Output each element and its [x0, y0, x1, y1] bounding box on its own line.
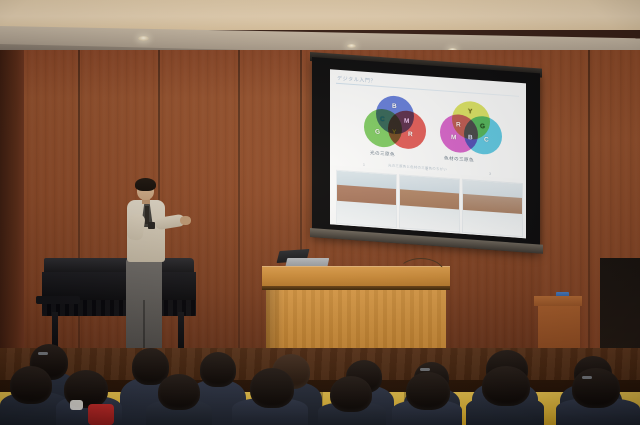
- presenter-hair: [135, 178, 156, 191]
- venn-label-B: B: [468, 134, 473, 141]
- photo-number: 3: [489, 172, 491, 176]
- wall-seam: [238, 50, 240, 350]
- lecture-hall-photo: デジタル入門？ B G R C M Y 光の三原色 Y M: [0, 0, 640, 425]
- venn-label-M: M: [404, 118, 409, 125]
- projection-screen: デジタル入門？ B G R C M Y 光の三原色 Y M: [312, 57, 540, 253]
- venn-label-C: C: [484, 136, 489, 143]
- red-bag: [88, 404, 114, 425]
- venn-subtractive: Y M C R G B: [440, 99, 502, 155]
- strip-photo: [336, 170, 397, 228]
- venn-label-R: R: [456, 121, 461, 128]
- venn-label-G: G: [375, 129, 380, 136]
- wall-left-shadow: [0, 50, 24, 350]
- hair-tie: [420, 368, 430, 371]
- venn-label-Y: Y: [468, 108, 472, 115]
- venn-label-B: B: [392, 103, 397, 110]
- ceiling-light-icon: [347, 44, 356, 48]
- audience-head: [200, 352, 236, 387]
- strip-photo: [462, 179, 523, 237]
- hair-tie: [582, 376, 592, 379]
- photo-number: 2: [426, 167, 428, 171]
- venn-label-M: M: [451, 134, 456, 141]
- face-mask: [70, 400, 83, 410]
- venn-caption-pigment: 色材の三原色: [444, 155, 474, 163]
- side-table-top: [534, 296, 582, 306]
- audience-head: [572, 368, 620, 408]
- audience-head: [330, 376, 372, 412]
- audience-head: [406, 372, 450, 410]
- doorway: [600, 258, 640, 354]
- audience-head: [482, 366, 530, 406]
- venn-label-C: C: [380, 116, 385, 123]
- venn-label-Y: Y: [392, 129, 396, 136]
- presenter-name-badge: [148, 222, 155, 229]
- ceiling-light-icon: [138, 36, 149, 41]
- slide-content: デジタル入門？ B G R C M Y 光の三原色 Y M: [330, 69, 526, 238]
- venn-caption-light: 光の三原色: [370, 150, 395, 158]
- audience-head: [10, 366, 52, 404]
- photo-strip: 1 2 3: [330, 165, 526, 238]
- venn-additive: B G R C M Y: [364, 94, 426, 150]
- ceiling-panel: [0, 0, 640, 30]
- hair-tie: [38, 352, 48, 355]
- wall-seam: [588, 50, 590, 350]
- venn-label-R: R: [408, 131, 413, 138]
- audience-head: [250, 368, 294, 408]
- piano-bench: [36, 296, 80, 304]
- photo-number: 1: [363, 163, 365, 167]
- presenter-hand: [180, 216, 191, 225]
- audience-head: [158, 374, 200, 410]
- venn-label-G: G: [480, 123, 485, 130]
- strip-photo: [399, 174, 460, 232]
